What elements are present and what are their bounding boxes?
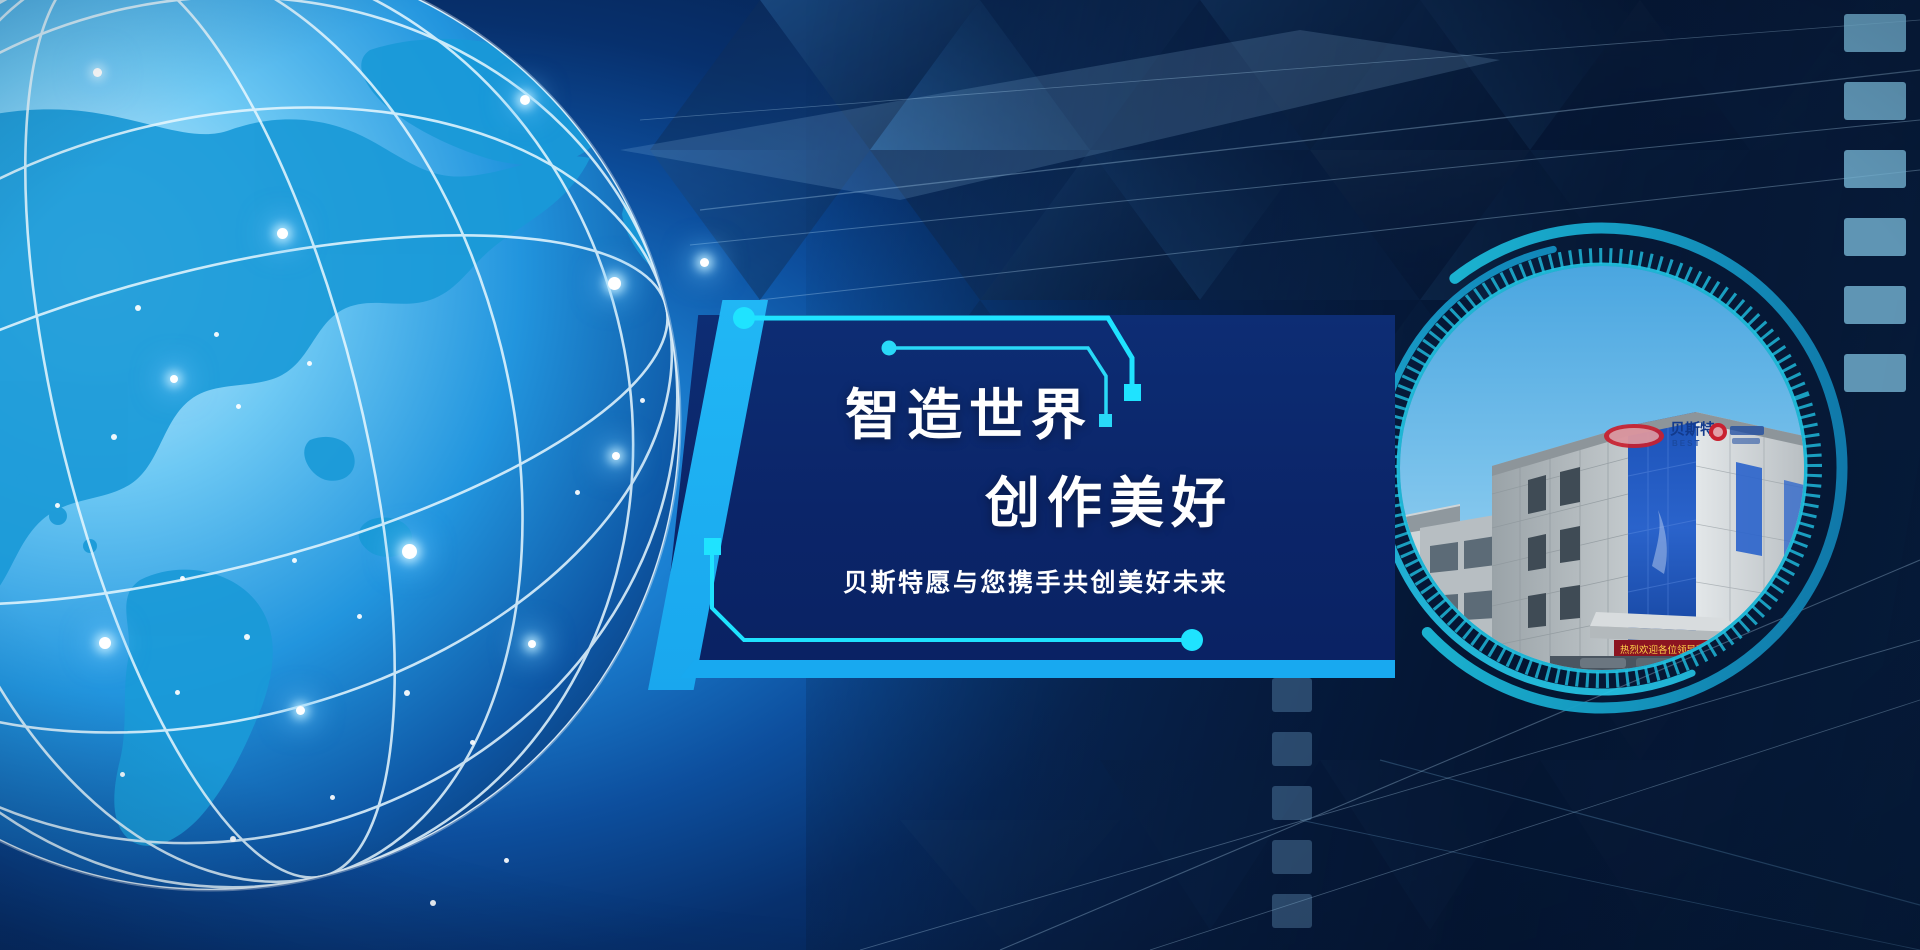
edge-mark (1272, 732, 1312, 766)
edge-mark (1844, 354, 1906, 392)
globe-node-dot (404, 690, 410, 696)
building-photo: 贝斯特 BEST 热烈欢迎各位领导莅临 (1400, 266, 1804, 670)
edge-mark (1844, 150, 1906, 188)
globe-node-dot (357, 614, 362, 619)
company-photo-ring: 贝斯特 BEST 热烈欢迎各位领导莅临 (1352, 218, 1852, 718)
bottom-edge-marks (1272, 678, 1312, 928)
globe-node-dot (55, 503, 60, 508)
svg-text:BEST: BEST (1672, 439, 1701, 448)
globe-node-dot (575, 490, 580, 495)
globe-node-dot (180, 576, 185, 581)
globe-node-dot (244, 634, 250, 640)
globe-node-dot (430, 900, 436, 906)
right-edge-marks (1844, 14, 1906, 392)
globe-node-dot (230, 836, 236, 842)
globe-node-glow (296, 706, 305, 715)
globe-node-glow (170, 375, 178, 383)
edge-mark (1844, 82, 1906, 120)
globe-node-dot (292, 558, 297, 563)
globe-node-glow (612, 452, 620, 460)
globe-node-dot (504, 858, 509, 863)
globe-graphic (0, 0, 750, 950)
headline-line-2: 创作美好 (985, 458, 1233, 538)
globe-node-dot (111, 434, 117, 440)
globe-node-glow (528, 640, 536, 648)
globe-node-glow (700, 258, 709, 267)
svg-text:贝斯特: 贝斯特 (1670, 420, 1715, 438)
globe-node-dot (470, 740, 475, 745)
edge-mark (1272, 786, 1312, 820)
globe-node-dot (640, 398, 645, 403)
globe-node-glow (93, 68, 102, 77)
hero-banner: 贝斯特 BEST 热烈欢迎各位领导莅临 (0, 0, 1920, 950)
globe-node-glow (520, 95, 530, 105)
globe-node-glow (277, 228, 288, 239)
globe-node-glow (99, 637, 111, 649)
edge-mark (1272, 894, 1312, 928)
edge-mark (1844, 286, 1906, 324)
subtitle-text: 贝斯特愿与您携手共创美好未来 (843, 563, 1228, 599)
edge-mark (1272, 840, 1312, 874)
panel-bottom-bar (680, 660, 1395, 678)
globe-node-dot (120, 772, 125, 777)
edge-mark (1844, 218, 1906, 256)
globe-node-dot (330, 795, 335, 800)
headline-line-1: 智造世界 (845, 370, 1093, 450)
edge-mark (1272, 678, 1312, 712)
globe-node-dot (135, 305, 141, 311)
svg-text:热烈欢迎各位领导莅临: 热烈欢迎各位领导莅临 (1620, 644, 1716, 656)
globe-node-dot (214, 332, 219, 337)
globe-node-dot (236, 404, 241, 409)
edge-mark (1844, 14, 1906, 52)
globe-node-dot (307, 361, 312, 366)
globe-node-glow (402, 544, 417, 559)
globe-node-glow (608, 277, 621, 290)
globe-node-dot (175, 690, 180, 695)
